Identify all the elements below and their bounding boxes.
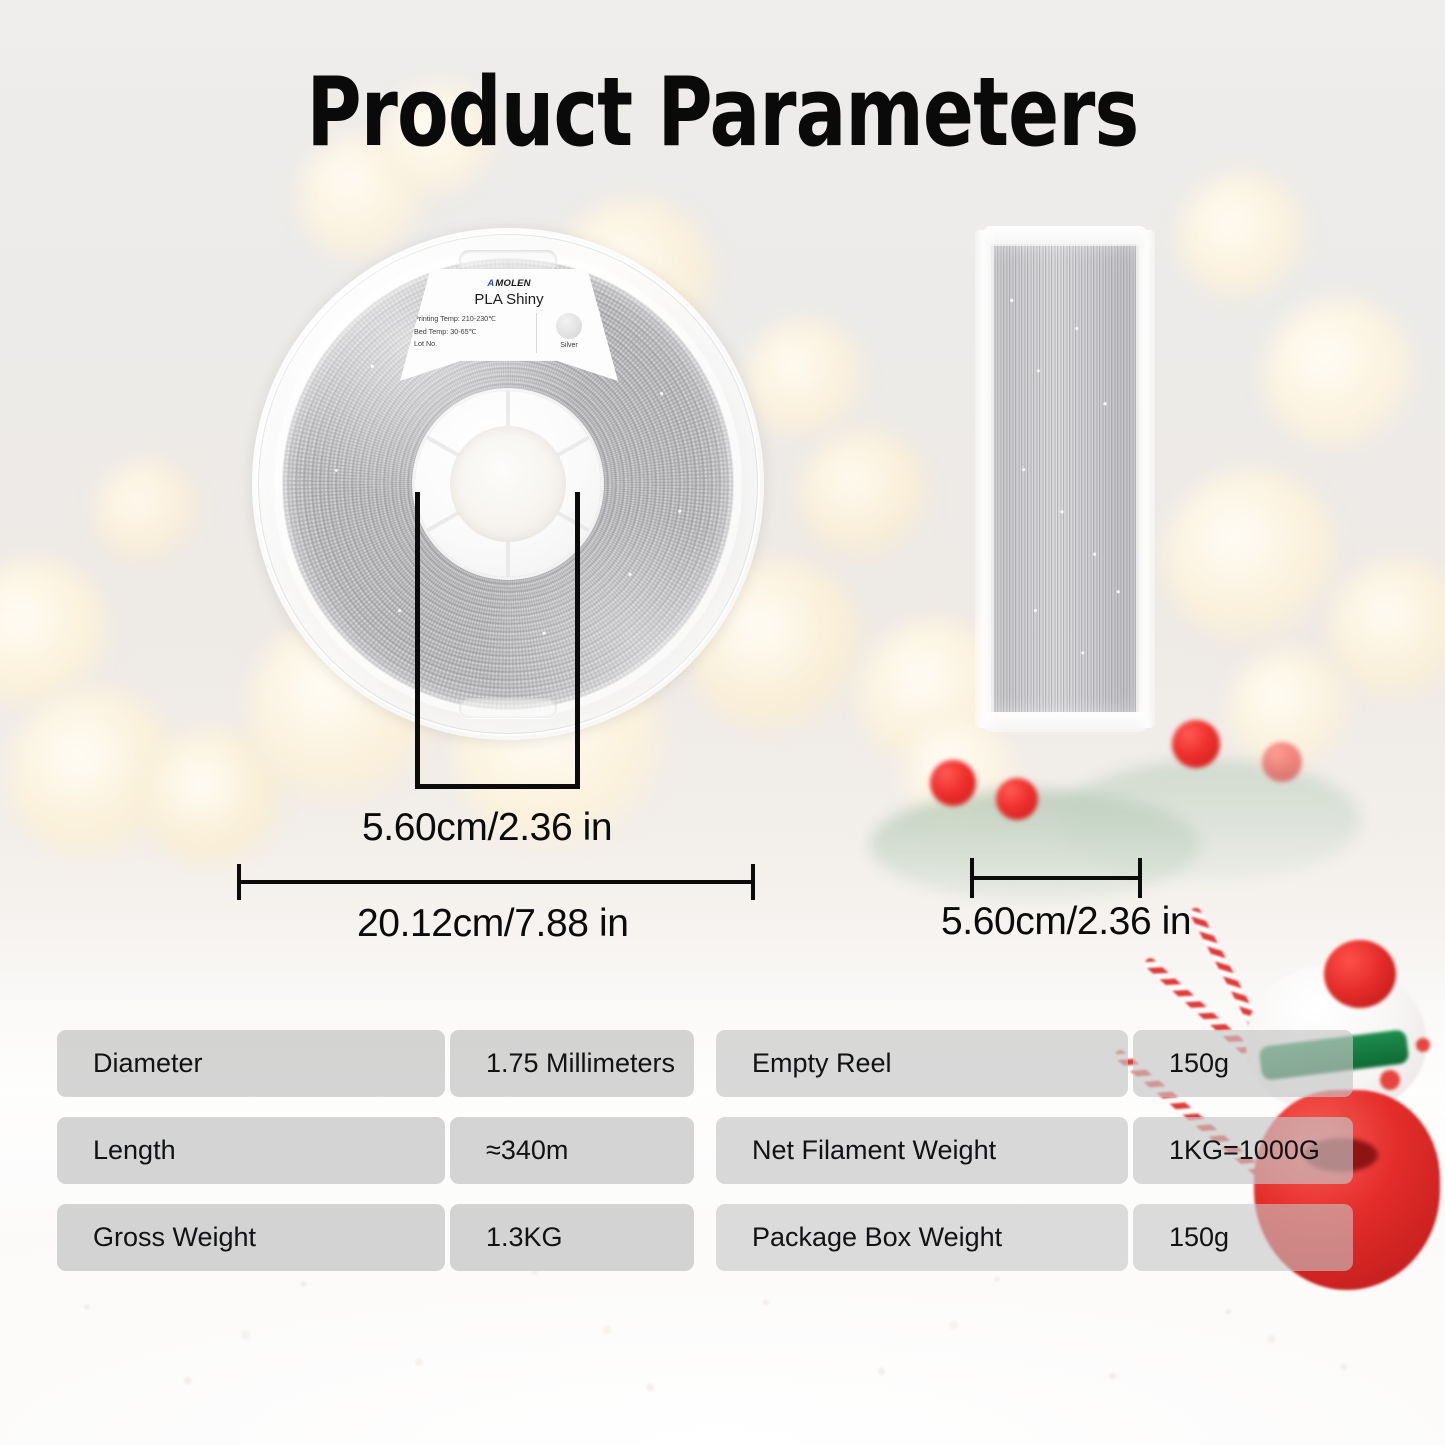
label-divider [536, 313, 537, 353]
spec-key: Gross Weight [57, 1204, 445, 1271]
bell-pompom [1324, 940, 1396, 1008]
spec-key: Empty Reel [716, 1030, 1128, 1097]
table-row: Length ≈340m Net Filament Weight 1KG=100… [57, 1117, 1353, 1184]
spool-flange-right [1136, 230, 1155, 728]
spec-key: Net Filament Weight [716, 1117, 1128, 1184]
spec-cell-group: Empty Reel 150g [716, 1030, 1353, 1097]
spec-value: ≈340m [450, 1117, 694, 1184]
inner-width-bracket-base [415, 784, 580, 789]
side-width-line [970, 876, 1142, 880]
spec-value: 1KG=1000G [1133, 1117, 1353, 1184]
spec-cell-group: Net Filament Weight 1KG=1000G [716, 1117, 1353, 1184]
side-width-label: 5.60cm/2.36 in [941, 900, 1191, 944]
spec-cell-group: Gross Weight 1.3KG [57, 1204, 694, 1271]
filament-spool-front-view: AMOLEN PLA Shiny Printing Temp: 210-230℃… [252, 228, 764, 740]
spec-value: 1.3KG [450, 1204, 694, 1271]
side-width-tick-left [970, 858, 974, 898]
color-swatch-group: Silver [546, 313, 592, 349]
spec-value: 150g [1133, 1204, 1353, 1271]
specifications-table: Diameter 1.75 Millimeters Empty Reel 150… [57, 1030, 1353, 1291]
spool-flange-left [975, 230, 994, 728]
holly-berry [930, 760, 976, 806]
bell-dot [1416, 1038, 1430, 1052]
spec-key: Diameter [57, 1030, 445, 1097]
lot-no: Lot No. [414, 338, 530, 351]
printing-temp: Printing Temp: 210-230℃ [414, 313, 530, 326]
outer-diameter-label: 20.12cm/7.88 in [357, 902, 629, 946]
inner-width-label: 5.60cm/2.36 in [362, 806, 612, 850]
table-row: Gross Weight 1.3KG Package Box Weight 15… [57, 1204, 1353, 1271]
brand-a-mark: A [487, 278, 494, 289]
product-name: PLA Shiny [400, 291, 618, 308]
spool-hub [415, 391, 601, 577]
holly-berry [1172, 720, 1220, 768]
spec-cell-group: Diameter 1.75 Millimeters [57, 1030, 694, 1097]
bell-dot [1380, 1070, 1400, 1090]
spec-cell-group: Package Box Weight 150g [716, 1204, 1353, 1271]
label-specs: Printing Temp: 210-230℃ Bed Temp: 30-65℃… [414, 313, 530, 351]
side-width-tick-right [1138, 858, 1142, 898]
spool-handle-slot-bottom [459, 698, 557, 718]
page-title: Product Parameters [87, 58, 1359, 168]
spec-key: Package Box Weight [716, 1204, 1128, 1271]
inner-width-bracket-right [575, 492, 580, 789]
filament-spool-side-view [975, 230, 1155, 728]
spool-edge-top [983, 226, 1147, 246]
brand-logo: AMOLEN [400, 278, 618, 289]
spool-handle-slot-top [459, 250, 557, 270]
hub-center-hole [450, 426, 566, 542]
pine-sprig [1060, 760, 1360, 880]
bed-temp: Bed Temp: 30-65℃ [414, 326, 530, 339]
holly-berry [1262, 742, 1302, 782]
spool-edge-bottom [983, 712, 1147, 732]
outer-diameter-tick-right [751, 864, 755, 900]
outer-diameter-line [237, 880, 755, 884]
table-row: Diameter 1.75 Millimeters Empty Reel 150… [57, 1030, 1353, 1097]
color-name: Silver [546, 342, 592, 349]
holly-berry [996, 778, 1038, 820]
color-swatch-icon [556, 313, 582, 339]
filament-glitter-side [991, 244, 1139, 714]
spec-value: 1.75 Millimeters [450, 1030, 694, 1097]
brand-name: MOLEN [495, 278, 530, 289]
spec-cell-group: Length ≈340m [57, 1117, 694, 1184]
spec-value: 150g [1133, 1030, 1353, 1097]
spec-key: Length [57, 1117, 445, 1184]
outer-diameter-tick-left [237, 864, 241, 900]
product-parameters-infographic: Product Parameters AMOLEN PLA Shiny Prin… [0, 0, 1445, 1445]
inner-width-bracket-left [415, 492, 420, 789]
